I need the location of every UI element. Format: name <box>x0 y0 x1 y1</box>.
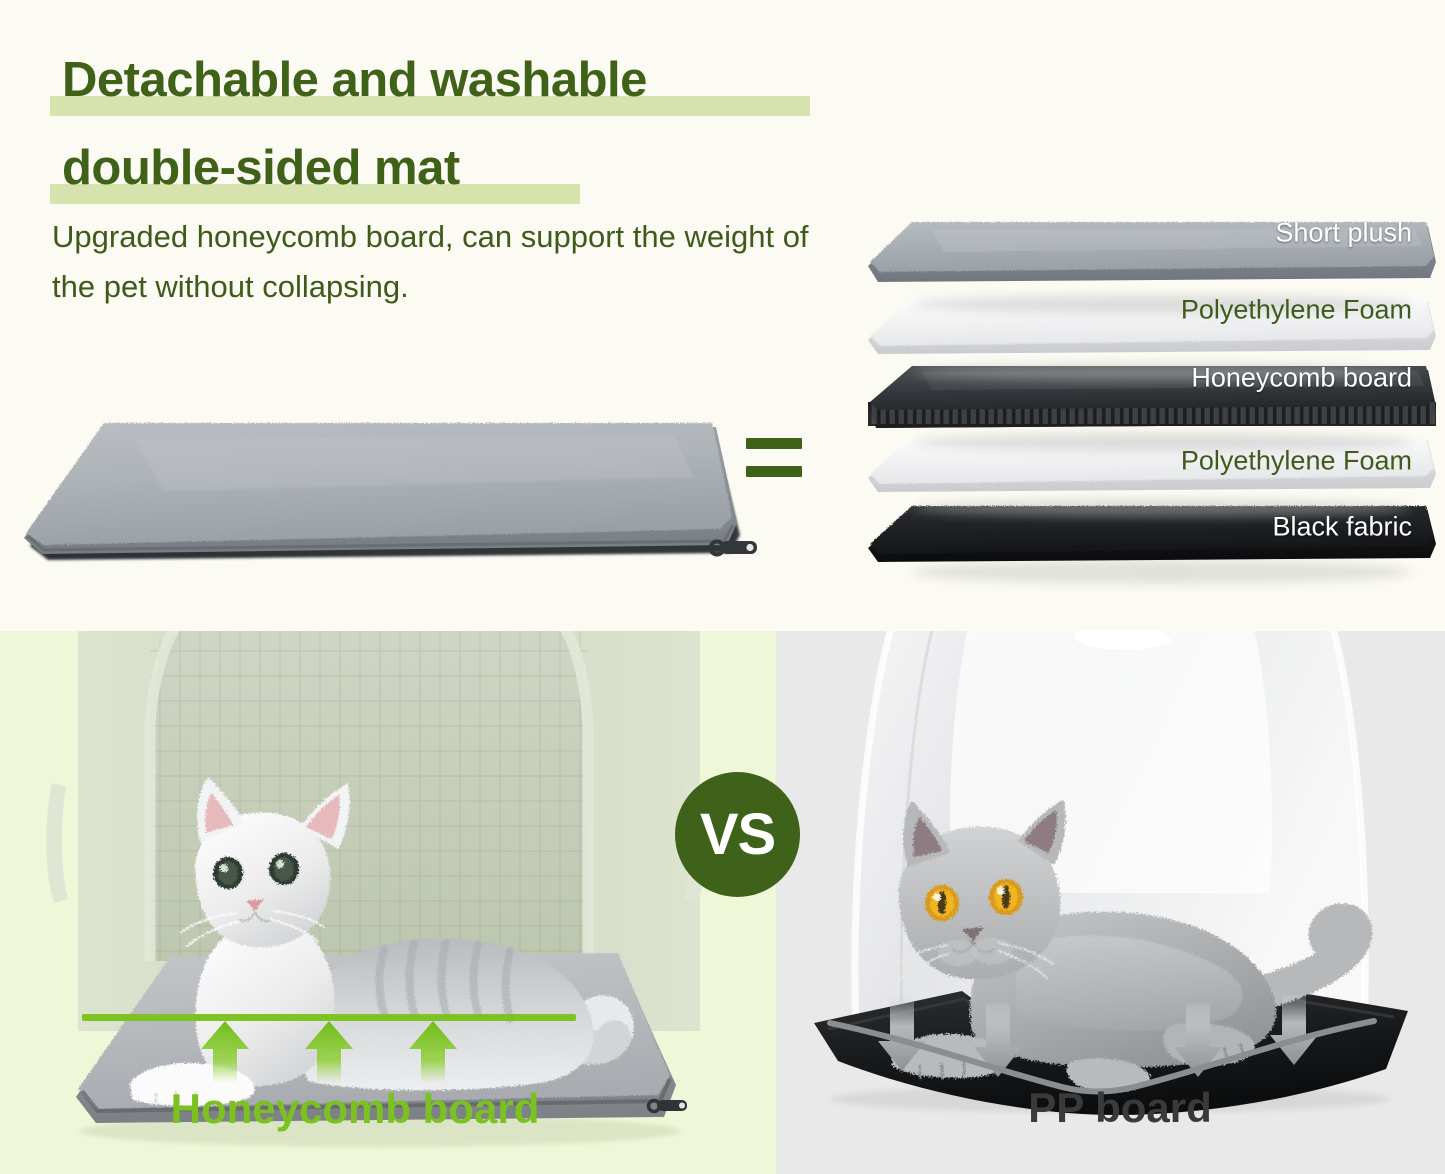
vs-label: VS <box>700 806 775 864</box>
layer-label-honeycomb-board: Honeycomb board <box>1191 363 1412 394</box>
layer-row-honeycomb: Honeycomb board <box>862 348 1440 408</box>
subheadline: Upgraded honeycomb board, can support th… <box>52 212 812 312</box>
caption-pp-board: PP board <box>940 1084 1300 1132</box>
top-panel: Detachable and washable double-sided mat… <box>0 0 1445 631</box>
headline-text-1: Detachable and washable <box>62 53 647 107</box>
layer-row-foam-bottom: Polyethylene Foam <box>862 432 1440 490</box>
layer-stack-diagram: Short plush Polyethylene Foam Honeycomb … <box>862 140 1440 580</box>
equals-bar-bottom <box>746 466 802 477</box>
layer-row-short-plush: Short plush <box>862 202 1440 264</box>
layer-label-polyethylene-foam-bottom: Polyethylene Foam <box>1181 446 1412 477</box>
equals-bar-top <box>746 438 802 449</box>
infographic-page: Detachable and washable double-sided mat… <box>0 0 1445 1174</box>
layer-row-foam-top: Polyethylene Foam <box>862 280 1440 340</box>
caption-honeycomb-board: Honeycomb board <box>120 1085 590 1133</box>
equals-symbol <box>746 428 808 490</box>
headline-line-2: double-sided mat <box>62 124 862 212</box>
layer-label-black-fabric: Black fabric <box>1272 512 1412 543</box>
headline-text-2: double-sided mat <box>62 141 460 195</box>
product-mat-photo <box>14 405 759 590</box>
layer-row-black-fabric: Black fabric <box>862 498 1440 556</box>
layer-label-polyethylene-foam-top: Polyethylene Foam <box>1181 295 1412 326</box>
headline-line-1: Detachable and washable <box>62 36 862 124</box>
layer-label-short-plush: Short plush <box>1275 218 1412 249</box>
vs-badge: VS <box>675 772 800 897</box>
page-title: Detachable and washable double-sided mat <box>62 36 862 212</box>
